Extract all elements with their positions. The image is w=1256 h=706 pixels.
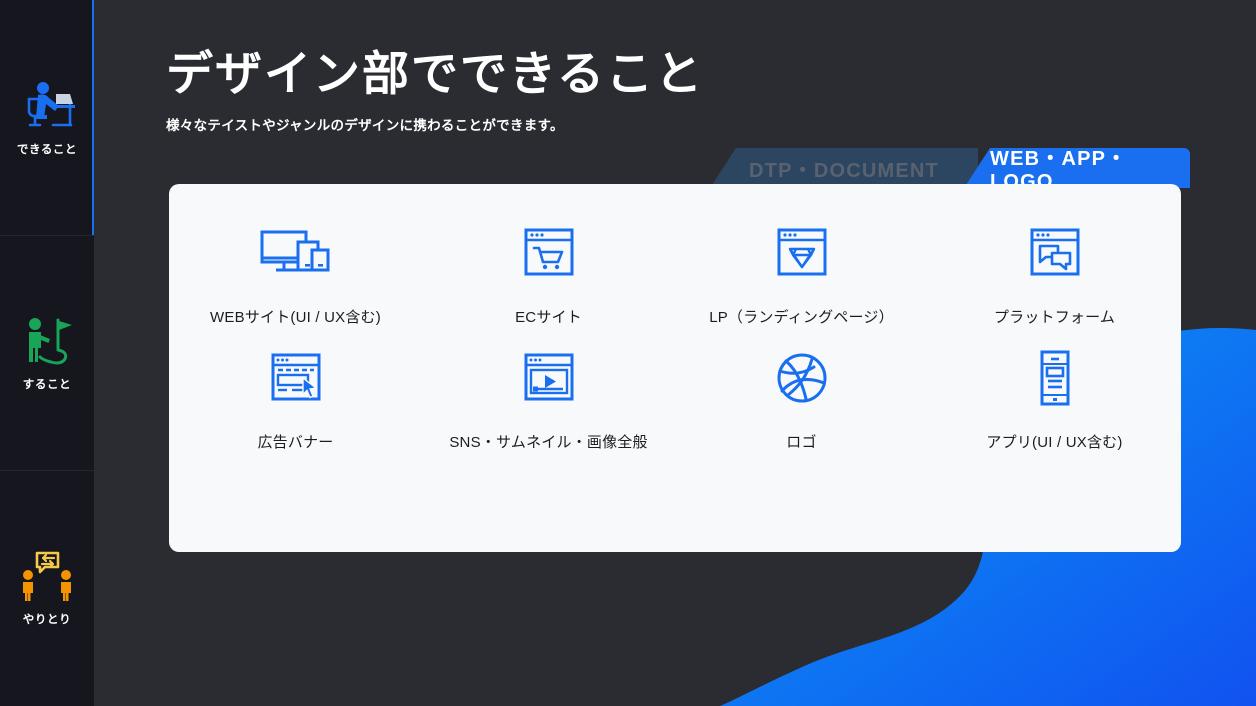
header: デザイン部でできること 様々なテイストやジャンルのデザインに携わることができます… — [166, 48, 704, 134]
service-label: SNS・サムネイル・画像全般 — [449, 431, 647, 452]
service-item[interactable]: LP（ランディングページ） — [675, 222, 928, 327]
browser-chat-bubbles-icon — [1015, 222, 1095, 286]
browser-diamond-icon — [762, 222, 842, 286]
tab-label: DTP・DOCUMENT — [749, 154, 939, 183]
person-with-flag-icon — [18, 314, 76, 366]
person-at-desk-icon — [18, 79, 76, 131]
sidebar-item-surukoto[interactable]: すること — [0, 235, 94, 470]
service-item[interactable]: WEBサイト(UI / UX含む) — [169, 222, 422, 327]
page-subtitle: 様々なテイストやジャンルのデザインに携わることができます。 — [166, 114, 704, 134]
services-grid: WEBサイト(UI / UX含む) ECサイト — [169, 222, 1181, 452]
service-item[interactable]: ロゴ — [675, 347, 928, 452]
service-item[interactable]: SNS・サムネイル・画像全般 — [422, 347, 675, 452]
page-title: デザイン部でできること — [166, 48, 704, 101]
dribbble-ball-icon — [762, 347, 842, 411]
service-label: ECサイト — [515, 306, 582, 327]
sidebar-item-yaritori[interactable]: やりとり — [0, 470, 94, 705]
service-label: 広告バナー — [257, 431, 333, 452]
tab-bar: DTP・DOCUMENT WEB・APP・LOGO — [710, 148, 1190, 188]
service-item[interactable]: 広告バナー — [169, 347, 422, 452]
smartphone-icon — [1015, 347, 1095, 411]
browser-video-play-icon — [509, 347, 589, 411]
sidebar-item-label: やりとり — [23, 611, 71, 627]
service-label: アプリ(UI / UX含む) — [986, 431, 1122, 452]
sidebar-item-label: できること — [17, 141, 77, 157]
tab-web-app-logo[interactable]: WEB・APP・LOGO — [964, 148, 1190, 188]
browser-banner-cursor-icon — [256, 347, 336, 411]
service-label: プラットフォーム — [994, 306, 1115, 327]
service-item[interactable]: アプリ(UI / UX含む) — [928, 347, 1181, 452]
sidebar-item-dekirukoto[interactable]: できること — [0, 0, 94, 235]
sidebar: できること すること — [0, 0, 94, 706]
tab-dtp-document[interactable]: DTP・DOCUMENT — [710, 148, 978, 188]
service-label: LP（ランディングページ） — [709, 306, 894, 327]
service-label: ロゴ — [786, 431, 816, 452]
service-label: WEBサイト(UI / UX含む) — [210, 306, 381, 327]
service-item[interactable]: ECサイト — [422, 222, 675, 327]
sidebar-item-label: すること — [23, 376, 71, 392]
two-people-chat-icon — [18, 549, 76, 601]
browser-shopping-cart-icon — [509, 222, 589, 286]
responsive-devices-icon — [256, 222, 336, 286]
services-card: WEBサイト(UI / UX含む) ECサイト — [169, 184, 1181, 552]
service-item[interactable]: プラットフォーム — [928, 222, 1181, 327]
